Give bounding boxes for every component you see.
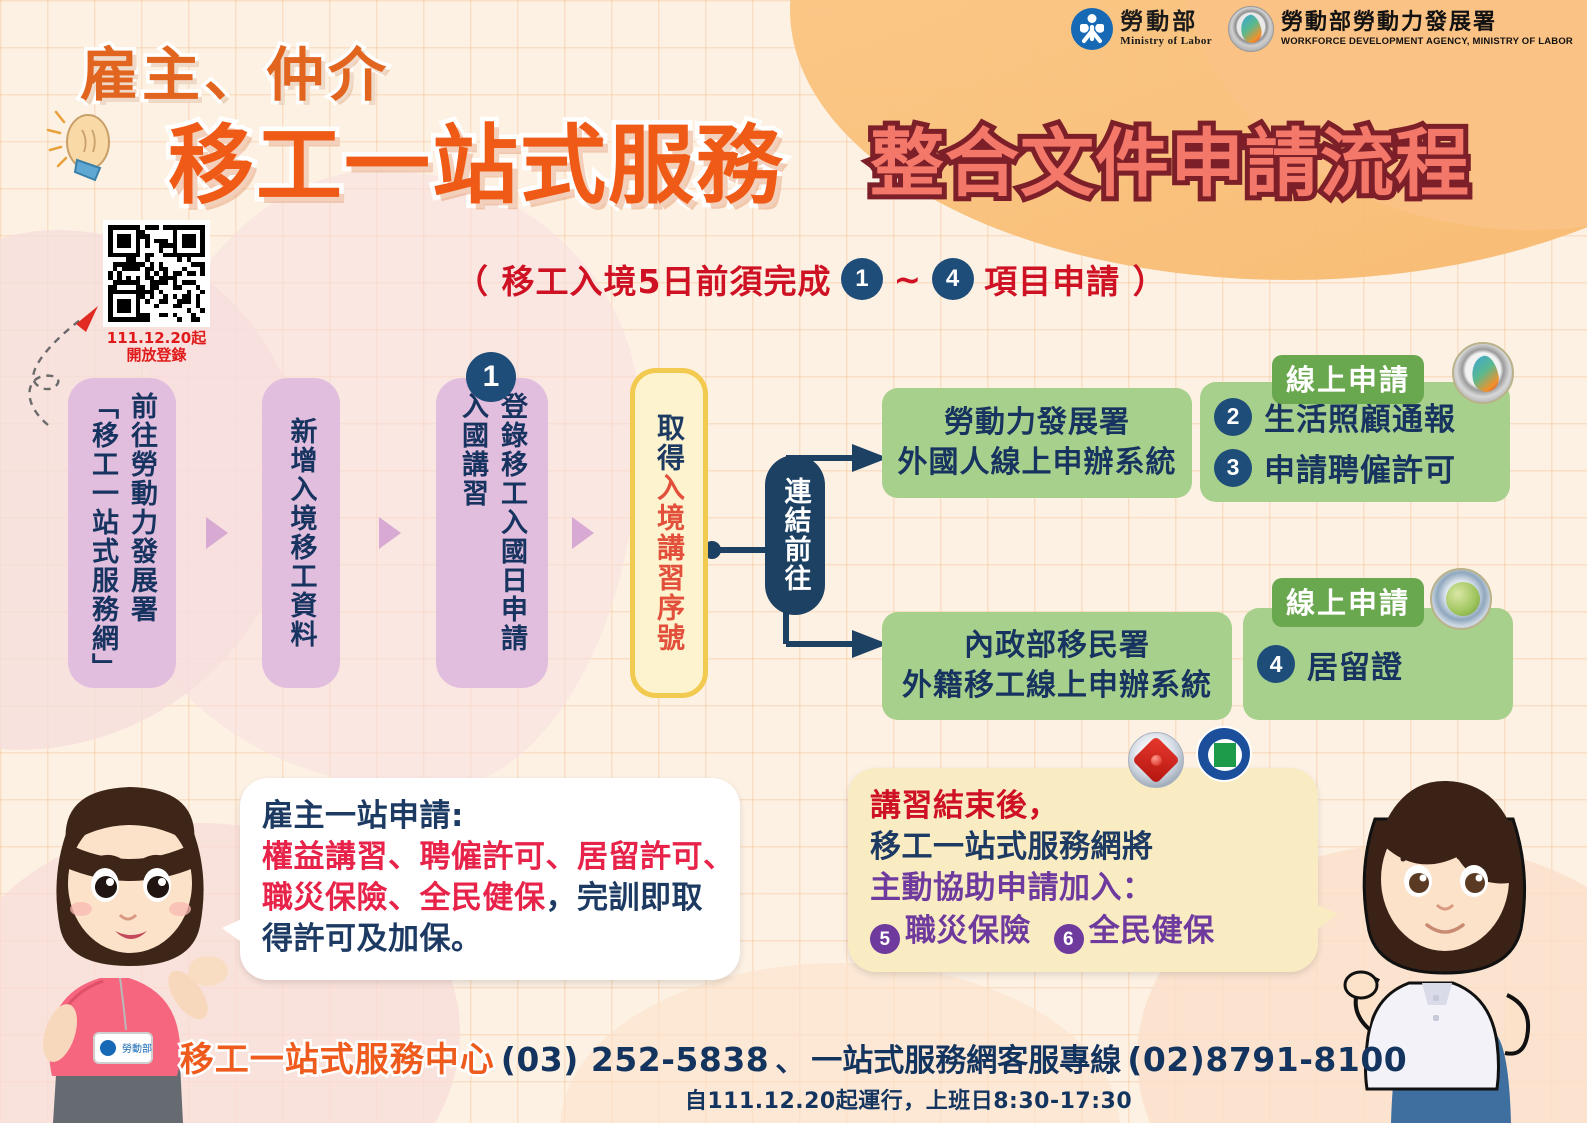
online-application-tag-bottom: 線上申請 — [1272, 578, 1424, 627]
tilde: ~ — [893, 260, 922, 299]
flow-step-add-entry-worker-data[interactable]: 新增入境移工資料 — [262, 378, 340, 688]
item-label-5: 職災保險 — [905, 913, 1031, 949]
flow-arrow-3-icon — [572, 517, 594, 549]
wda-name-cn: 勞動部勞動力發展署 — [1281, 11, 1573, 34]
page-subtitle: 整合文件申請流程 — [870, 104, 1470, 211]
flow-step-get-training-serial[interactable]: 取得入境講習序號 — [630, 368, 708, 698]
bubble-left-line1: 雇主一站申請: — [262, 796, 718, 837]
ministry-of-labor-icon — [1071, 8, 1113, 50]
header-logos: 勞動部 Ministry of Labor 勞動部勞動力發展署 WORKFORC… — [1071, 6, 1573, 52]
requirement-note-tail: 項目申請 ） — [984, 255, 1167, 303]
flow-arrow-2-icon — [379, 517, 401, 549]
system-wda-foreigner-online[interactable]: 勞動力發展署 外國人線上申辦系統 — [882, 388, 1192, 498]
get-serial-prefix: 取得 — [649, 413, 689, 473]
online-item-employment-permit[interactable]: 3 申請聘僱許可 — [1214, 445, 1492, 490]
get-serial-highlight: 入境講習序號 — [649, 473, 689, 653]
qr-caption: 111.12.20起 開放登錄 — [103, 330, 210, 365]
qr-code[interactable] — [103, 220, 210, 327]
connector-link-label[interactable]: 連結前往 — [765, 455, 825, 615]
bubble-left-line2: 權益講習、聘僱許可、居留許可、 — [262, 837, 718, 878]
item-badge-5: 5 — [870, 924, 900, 954]
item-badge-3: 3 — [1214, 449, 1252, 487]
curved-dashed-arrow-icon — [8, 280, 118, 430]
item-label-3: 申請聘僱許可 — [1264, 445, 1456, 490]
bubble-right-items: 5職災保險 6全民健保 — [870, 911, 1296, 955]
item-label-6: 全民健保 — [1089, 913, 1215, 949]
requirement-note-lead: （ 移工入境5日前須完成 — [455, 255, 831, 303]
bubble-left-line3: 職災保險、全民健保，完訓即取 — [262, 878, 718, 919]
footer-hotline-label: 一站式服務網客服專線 — [811, 1035, 1121, 1080]
speech-bubble-left: 雇主一站申請: 權益講習、聘僱許可、居留許可、 職災保險、全民健保，完訓即取 得… — [240, 778, 740, 980]
online-item-residence-permit[interactable]: 4 居留證 — [1257, 642, 1495, 687]
item-badge-2: 2 — [1214, 398, 1252, 436]
infographic-poster: 勞動部 Ministry of Labor 勞動部勞動力發展署 WORKFORC… — [0, 0, 1587, 1123]
wda-name-en: WORKFORCE DEVELOPMENT AGENCY, MINISTRY O… — [1281, 37, 1573, 47]
bubble-right-line3: 主動協助申請加入： — [870, 868, 1296, 909]
bubble-right-line1: 講習結束後， — [870, 786, 1296, 827]
step-number-badge-1: 1 — [466, 352, 516, 402]
wda-seal-icon-top — [1452, 342, 1514, 404]
item-badge-4: 4 — [1257, 645, 1295, 683]
bubble-left-line4: 得許可及加保。 — [262, 919, 718, 960]
footer-tel-1: (03) 252-5838 — [501, 1040, 770, 1079]
page-title: 移工一站式服務 — [168, 95, 784, 220]
step-badge-4: 4 — [932, 258, 974, 300]
footer-center-name: 移工一站式服務中心 — [180, 1032, 495, 1081]
wda-seal-icon — [1228, 6, 1274, 52]
bubble-tail-left-icon — [222, 914, 252, 950]
footer-note: 自111.12.20起運行，上班日8:30-17:30 — [0, 1083, 1587, 1115]
system-nia-migrant-online[interactable]: 內政部移民署 外籍移工線上申辦系統 — [882, 612, 1232, 720]
footer-tel-2: (02)8791-8100 — [1127, 1040, 1407, 1079]
flow-arrow-1-icon — [206, 517, 228, 549]
nia-seal-icon — [1430, 568, 1492, 630]
system-wda-line2: 外國人線上申辦系統 — [898, 443, 1177, 484]
bubble-left-line3-rest: ，完訓即取 — [546, 880, 704, 916]
system-nia-line2: 外籍移工線上申辦系統 — [902, 666, 1212, 707]
lightbulb-icon — [42, 100, 122, 190]
item-badge-6: 6 — [1054, 924, 1084, 954]
footer-separator: 、 — [775, 1036, 805, 1080]
mol-name-cn: 勞動部 — [1120, 11, 1212, 34]
system-nia-line1: 內政部移民署 — [902, 626, 1212, 667]
wda-logo: 勞動部勞動力發展署 WORKFORCE DEVELOPMENT AGENCY, … — [1228, 6, 1573, 52]
flow-step-register-entry-training[interactable]: 登錄移工入國日申請入國講習 — [436, 378, 548, 688]
bubble-left-line3-red: 職災保險、全民健保 — [262, 880, 546, 916]
ministry-of-labor-logo: 勞動部 Ministry of Labor — [1071, 8, 1212, 50]
footer-contact-line: 移工一站式服務中心 (03) 252-5838 、 一站式服務網客服專線 (02… — [180, 1032, 1408, 1081]
bureau-of-labor-insurance-icon — [1128, 732, 1184, 788]
qr-code-block[interactable]: 111.12.20起 開放登錄 — [103, 220, 210, 365]
footer: 移工一站式服務中心 (03) 252-5838 、 一站式服務網客服專線 (02… — [0, 1032, 1587, 1115]
requirement-note: （ 移工入境5日前須完成 1 ~ 4 項目申請 ） — [455, 255, 1167, 303]
item-label-4: 居留證 — [1307, 642, 1403, 687]
national-health-insurance-icon — [1196, 726, 1252, 782]
system-wda-line1: 勞動力發展署 — [898, 403, 1177, 444]
mol-figure-icon — [1081, 25, 1103, 47]
step-badge-1: 1 — [841, 258, 883, 300]
bubble-right-line2: 移工一站式服務網將 — [870, 827, 1296, 868]
mol-name-en: Ministry of Labor — [1120, 36, 1212, 47]
speech-bubble-right: 講習結束後， 移工一站式服務網將 主動協助申請加入： 5職災保險 6全民健保 — [848, 768, 1318, 972]
online-application-tag-top: 線上申請 — [1272, 355, 1424, 404]
bubble-tail-right-icon — [1306, 900, 1338, 938]
